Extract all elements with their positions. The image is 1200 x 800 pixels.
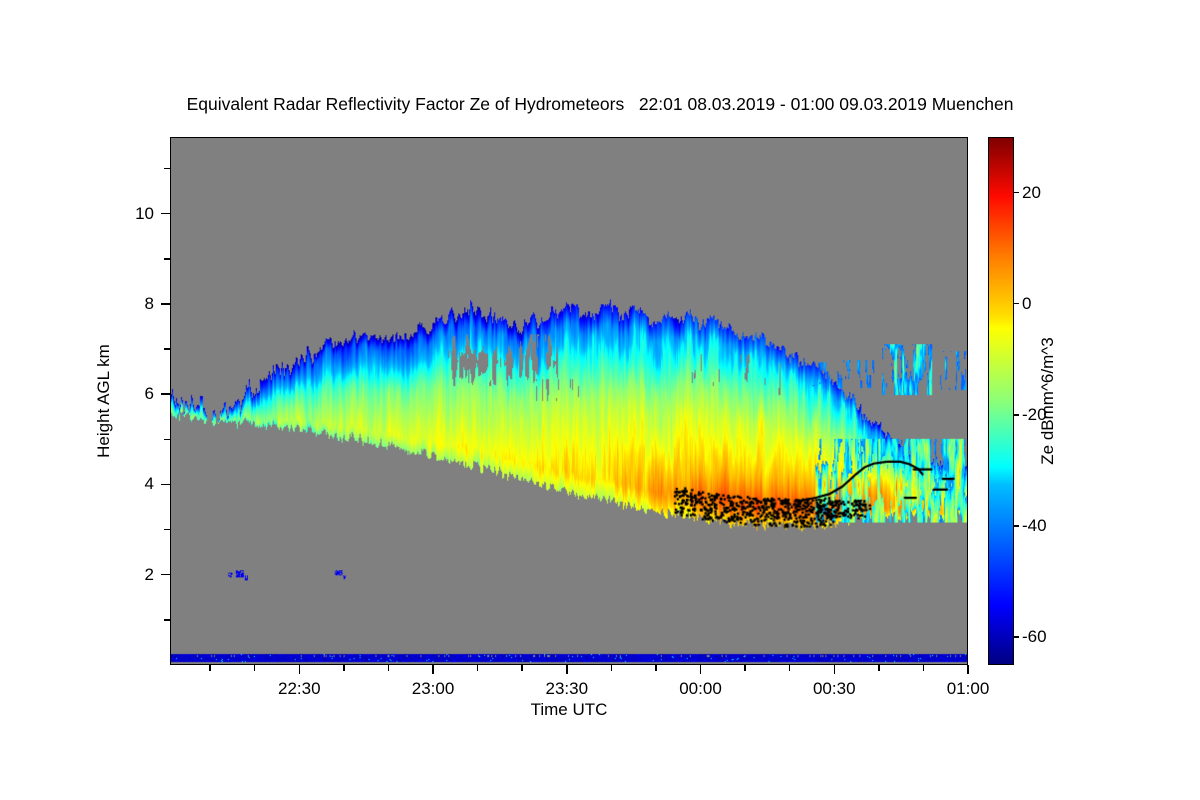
colorbar-tick bbox=[1014, 525, 1019, 527]
y-tick-minor bbox=[164, 348, 170, 350]
x-tick-major bbox=[700, 665, 702, 674]
colorbar-label: Ze dBmm^6/m^3 bbox=[1038, 337, 1058, 464]
y-tick-major bbox=[161, 213, 170, 215]
colorbar-tick-label: -40 bbox=[1022, 516, 1047, 536]
x-tick-minor bbox=[611, 665, 613, 671]
x-tick-label: 00:00 bbox=[679, 679, 722, 699]
y-tick-major bbox=[161, 303, 170, 305]
x-tick-label: 23:00 bbox=[412, 679, 455, 699]
x-tick-minor bbox=[655, 665, 657, 671]
x-tick-minor bbox=[388, 665, 390, 671]
x-tick-minor bbox=[209, 665, 211, 671]
y-tick-major bbox=[161, 393, 170, 395]
x-tick-major bbox=[432, 665, 434, 674]
plot-area bbox=[170, 137, 968, 665]
page-title: Equivalent Radar Reflectivity Factor Ze … bbox=[0, 94, 1200, 115]
colorbar-tick-label: 0 bbox=[1022, 294, 1031, 314]
y-tick-major bbox=[161, 484, 170, 486]
y-tick-label: 6 bbox=[114, 384, 154, 404]
y-tick-label: 10 bbox=[114, 204, 154, 224]
x-tick-label: 23:30 bbox=[545, 679, 588, 699]
colorbar-tick-label: 20 bbox=[1022, 183, 1041, 203]
x-tick-minor bbox=[477, 665, 479, 671]
x-tick-major bbox=[566, 665, 568, 674]
y-tick-label: 4 bbox=[114, 474, 154, 494]
colorbar-tick bbox=[1014, 192, 1019, 194]
y-tick-major bbox=[161, 574, 170, 576]
x-tick-major bbox=[299, 665, 301, 674]
y-tick-minor bbox=[164, 168, 170, 170]
x-tick-minor bbox=[521, 665, 523, 671]
x-tick-major bbox=[834, 665, 836, 674]
x-tick-minor bbox=[878, 665, 880, 671]
y-axis-label: Height AGL km bbox=[94, 344, 114, 458]
x-tick-minor bbox=[343, 665, 345, 671]
radar-reflectivity-figure: Equivalent Radar Reflectivity Factor Ze … bbox=[0, 0, 1200, 800]
x-tick-label: 00:30 bbox=[813, 679, 856, 699]
x-tick-minor bbox=[789, 665, 791, 671]
y-tick-minor bbox=[164, 439, 170, 441]
colorbar-tick bbox=[1014, 636, 1019, 638]
x-tick-label: 01:00 bbox=[947, 679, 990, 699]
reflectivity-heatmap bbox=[171, 138, 967, 664]
y-tick-minor bbox=[164, 619, 170, 621]
x-tick-minor bbox=[254, 665, 256, 671]
colorbar-tick bbox=[1014, 414, 1019, 416]
y-tick-label: 8 bbox=[114, 294, 154, 314]
colorbar bbox=[988, 137, 1014, 665]
x-tick-minor bbox=[923, 665, 925, 671]
y-tick-minor bbox=[164, 529, 170, 531]
y-tick-label: 2 bbox=[114, 565, 154, 585]
colorbar-gradient bbox=[989, 138, 1013, 664]
x-tick-label: 22:30 bbox=[278, 679, 321, 699]
x-tick-minor bbox=[744, 665, 746, 671]
colorbar-tick-label: -60 bbox=[1022, 627, 1047, 647]
x-tick-major bbox=[967, 665, 969, 674]
x-axis-label: Time UTC bbox=[531, 700, 608, 720]
y-tick-minor bbox=[164, 258, 170, 260]
colorbar-tick bbox=[1014, 303, 1019, 305]
